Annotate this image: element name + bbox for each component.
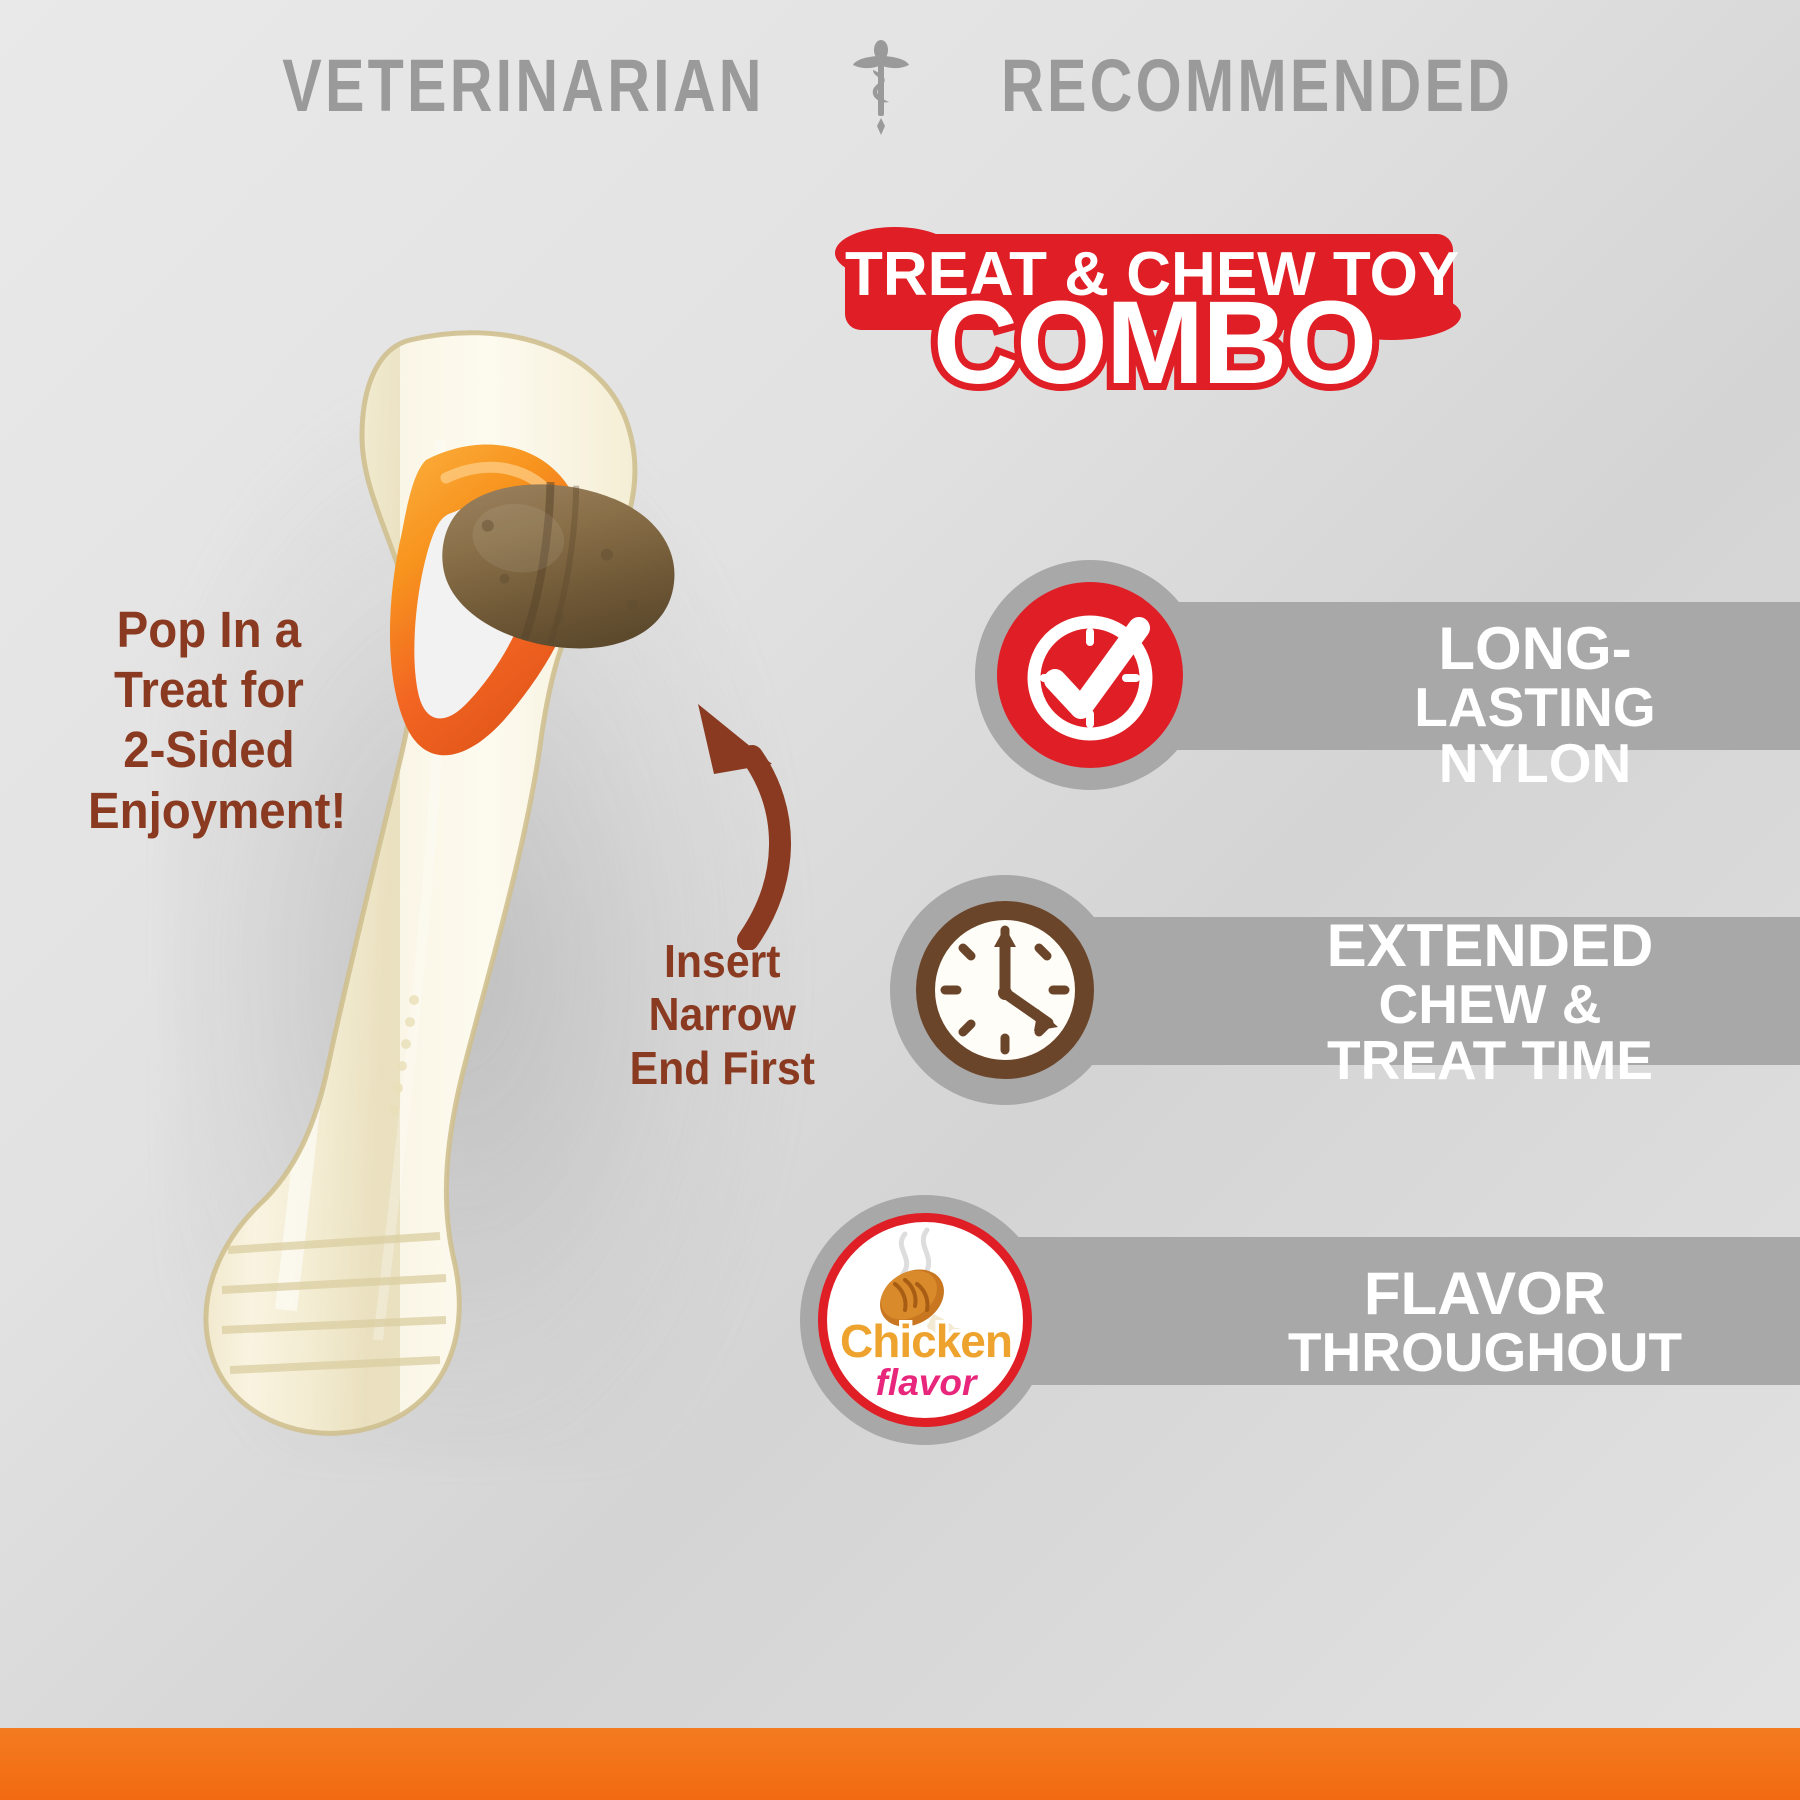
feature-line-2: LASTING bbox=[1275, 679, 1795, 735]
feature-text-extended-chew-treat-time: EXTENDED CHEW & TREAT TIME bbox=[1180, 915, 1800, 1088]
caduceus-veterinary-icon bbox=[851, 36, 911, 136]
feature-icon-holder bbox=[890, 875, 1120, 1105]
chicken-flavor-badge-icon: Chicken flavor bbox=[818, 1213, 1032, 1427]
header-text-right: RECOMMENDED bbox=[1001, 49, 1513, 123]
feature-line-2: CHEW & bbox=[1180, 976, 1800, 1032]
curved-up-arrow-icon bbox=[640, 690, 820, 950]
combo-badge-line-2: COMBO bbox=[845, 284, 1463, 402]
insert-line-2: Narrow bbox=[620, 988, 825, 1041]
chicken-badge-name: Chicken bbox=[827, 1314, 1025, 1368]
insert-line-1: Insert bbox=[620, 935, 825, 988]
feature-icon-holder bbox=[975, 560, 1205, 790]
pop-in-line-4: Enjoyment! bbox=[88, 781, 330, 841]
pop-in-line-2: Treat for bbox=[88, 660, 330, 720]
pop-in-line-1: Pop In a bbox=[88, 600, 330, 660]
clock-check-icon bbox=[997, 582, 1183, 768]
feature-text-long-lasting-nylon: LONG- LASTING NYLON bbox=[1275, 618, 1795, 791]
chicken-badge-flavor: flavor bbox=[827, 1362, 1025, 1404]
product-infographic: VETERINARIAN RECOMMENDED bbox=[0, 0, 1800, 1800]
clock-icon bbox=[912, 897, 1098, 1083]
feature-line-3: NYLON bbox=[1275, 735, 1795, 791]
feature-line-1: EXTENDED bbox=[1180, 915, 1800, 976]
feature-text-flavor-throughout: FLAVOR THROUGHOUT bbox=[1180, 1263, 1790, 1380]
combo-badge: TREAT & CHEW TOY COMBO bbox=[845, 222, 1455, 402]
pop-in-callout: Pop In a Treat for 2-Sided Enjoyment! bbox=[88, 600, 330, 841]
pop-in-line-3: 2-Sided bbox=[88, 720, 330, 780]
feature-line-2: THROUGHOUT bbox=[1180, 1324, 1790, 1380]
feature-line-3: TREAT TIME bbox=[1180, 1032, 1800, 1088]
header-banner: VETERINARIAN RECOMMENDED bbox=[0, 36, 1800, 136]
feature-line-1: FLAVOR bbox=[1180, 1263, 1790, 1324]
feature-row-flavor-throughout: Chicken flavor FLAVOR THROUGHOUT bbox=[800, 1195, 1800, 1425]
bottom-accent-bar bbox=[0, 1728, 1800, 1800]
insert-line-3: End First bbox=[620, 1042, 825, 1095]
feature-line-1: LONG- bbox=[1275, 618, 1795, 679]
insert-callout: Insert Narrow End First bbox=[620, 935, 825, 1095]
feature-icon-holder: Chicken flavor bbox=[800, 1195, 1050, 1445]
feature-row-extended-chew-treat-time: EXTENDED CHEW & TREAT TIME bbox=[890, 875, 1800, 1105]
feature-row-long-lasting-nylon: LONG- LASTING NYLON bbox=[975, 560, 1800, 790]
header-text-left: VETERINARIAN bbox=[283, 49, 765, 123]
